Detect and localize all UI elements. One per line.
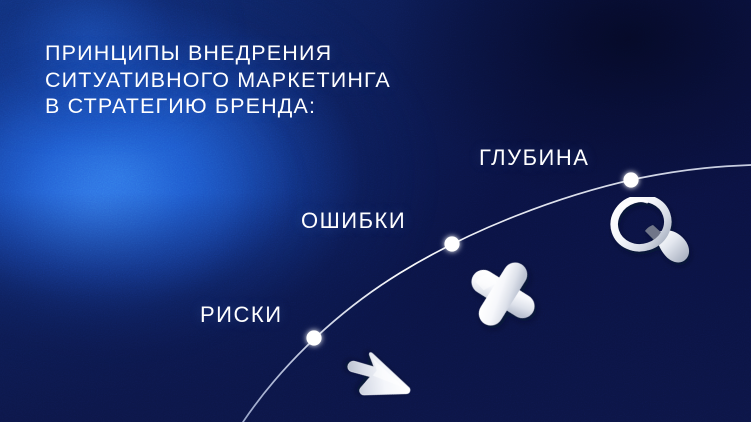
node-dot-depth[interactable] bbox=[623, 172, 638, 187]
node-dot-risks[interactable] bbox=[306, 330, 321, 345]
node-label-depth: ГЛУБИНА bbox=[479, 145, 589, 171]
magnifying-glass-icon bbox=[609, 197, 701, 271]
cursor-arrow-icon bbox=[336, 338, 420, 412]
presentation-slide: ПРИНЦИПЫ ВНЕДРЕНИЯ СИТУАТИВНОГО МАРКЕТИН… bbox=[0, 0, 751, 422]
node-label-errors: ОШИБКИ bbox=[301, 208, 406, 234]
cross-x-icon bbox=[455, 246, 551, 342]
node-label-risks: РИСКИ bbox=[200, 302, 283, 328]
